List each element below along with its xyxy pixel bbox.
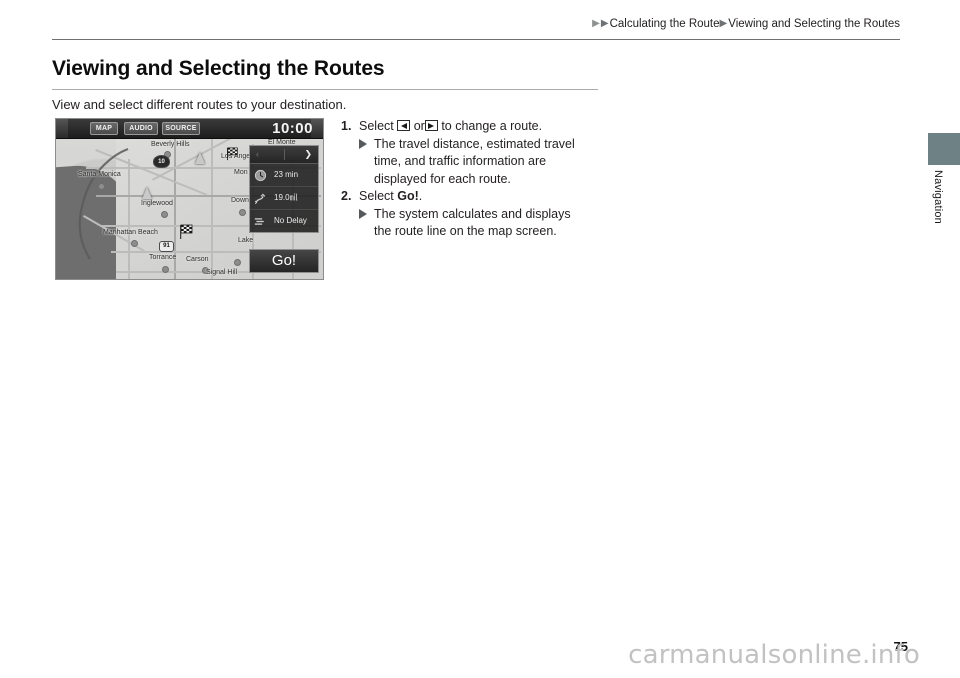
go-command-label: Go! xyxy=(397,189,419,203)
step-2-line: 2.Select Go!. xyxy=(341,188,591,206)
breadcrumb-arrow-icon: ▶ xyxy=(601,18,609,29)
step-1-note-text: The travel distance, estimated travel ti… xyxy=(374,137,575,186)
clock-icon xyxy=(254,169,267,182)
route-pager[interactable]: ‹ ❯ xyxy=(250,146,318,164)
manual-page: ▶▶Calculating the Route▶Viewing and Sele… xyxy=(0,0,960,678)
route-info-panel: ‹ ❯ 23 min 19.0㏕ xyxy=(249,145,319,233)
section-tab-label: Navigation xyxy=(928,170,944,260)
section-tab-navigation[interactable] xyxy=(928,133,960,165)
map-city-label: Manhattan Beach xyxy=(103,229,158,236)
right-arrow-key-icon[interactable] xyxy=(425,120,438,131)
map-city-label: Down xyxy=(231,197,249,204)
vehicle-position-arrow xyxy=(195,152,205,164)
step-2-text-after: . xyxy=(419,189,422,203)
travel-time-row: 23 min xyxy=(250,164,318,187)
state-route-shield-icon: 91 xyxy=(159,241,174,252)
travel-time-value: 23 min xyxy=(274,164,298,186)
checkered-flag-icon xyxy=(179,224,195,240)
step-2-text-before: Select xyxy=(359,189,394,203)
step-1-number: 1. xyxy=(341,118,351,136)
breadcrumb: ▶▶Calculating the Route▶Viewing and Sele… xyxy=(52,18,900,30)
left-arrow-key-icon[interactable] xyxy=(397,120,410,131)
note-arrow-icon xyxy=(359,209,367,219)
previous-route-icon[interactable]: ‹ xyxy=(256,150,259,159)
topbar-cap xyxy=(56,119,68,138)
travel-distance-value: 19.0㏕ xyxy=(274,187,298,209)
map-city-dot xyxy=(234,259,241,266)
step-1-text-before: Select xyxy=(359,119,394,133)
traffic-status-value: No Delay xyxy=(274,210,307,232)
step-1-note: The travel distance, estimated travel ti… xyxy=(341,136,591,189)
traffic-icon xyxy=(254,215,267,228)
map-city-dot xyxy=(131,240,138,247)
step-2: 2.Select Go!. The system calculates and … xyxy=(341,188,591,241)
breadcrumb-arrow-icon: ▶ xyxy=(720,18,728,29)
next-route-icon[interactable]: ❯ xyxy=(304,150,312,159)
map-city-label: Lake xyxy=(238,237,253,244)
map-city-label: Inglewood xyxy=(141,200,173,207)
title-underline xyxy=(52,89,598,90)
intro-text: View and select different routes to your… xyxy=(52,97,612,112)
map-city-dot xyxy=(98,183,105,190)
map-city-dot xyxy=(161,211,168,218)
navigation-screenshot: Beverly Hills Los Angeles Santa Monica I… xyxy=(55,118,324,280)
map-city-label: Signal Hill xyxy=(206,269,237,276)
map-city-label: Carson xyxy=(186,256,209,263)
breadcrumb-item-current[interactable]: Viewing and Selecting the Routes xyxy=(728,18,900,30)
page-title: Viewing and Selecting the Routes xyxy=(52,57,612,81)
map-city-label: Torrance xyxy=(149,254,176,261)
breadcrumb-item-parent[interactable]: Calculating the Route xyxy=(610,18,720,30)
step-1-text-after: to change a route. xyxy=(441,119,542,133)
map-city-label: Beverly Hills xyxy=(151,141,190,148)
go-button[interactable]: Go! xyxy=(249,249,319,273)
clock-display: 10:00 xyxy=(272,119,313,138)
step-1-text-middle: or xyxy=(414,119,425,133)
map-city-label: Mon xyxy=(234,169,248,176)
travel-distance-row: 19.0㏕ xyxy=(250,187,318,210)
site-watermark: carmanualsonline.info xyxy=(628,640,920,670)
pager-divider xyxy=(284,149,285,160)
checkered-flag-icon xyxy=(226,147,240,161)
interstate-shield-icon: 10 xyxy=(153,155,170,168)
map-city-dot xyxy=(162,266,169,273)
note-arrow-icon xyxy=(359,139,367,149)
step-2-note-text: The system calculates and displays the r… xyxy=(374,207,571,239)
vehicle-position-arrow xyxy=(142,187,152,199)
header-divider xyxy=(52,39,900,40)
step-2-note: The system calculates and displays the r… xyxy=(341,206,591,241)
traffic-status-row: No Delay xyxy=(250,210,318,232)
nav-topbar: MAP AUDIO SOURCE 10:00 xyxy=(56,119,323,139)
step-1: 1.Select or to change a route. The trave… xyxy=(341,118,591,188)
source-button[interactable]: SOURCE xyxy=(162,122,200,135)
audio-button[interactable]: AUDIO xyxy=(124,122,158,135)
map-city-dot xyxy=(239,209,246,216)
step-1-line: 1.Select or to change a route. xyxy=(341,118,591,136)
step-2-number: 2. xyxy=(341,188,351,206)
map-city-label: Santa Monica xyxy=(78,171,121,178)
route-icon xyxy=(254,192,267,205)
instruction-steps: 1.Select or to change a route. The trave… xyxy=(341,118,591,241)
map-button[interactable]: MAP xyxy=(90,122,118,135)
breadcrumb-arrow-icon: ▶ xyxy=(592,18,600,29)
